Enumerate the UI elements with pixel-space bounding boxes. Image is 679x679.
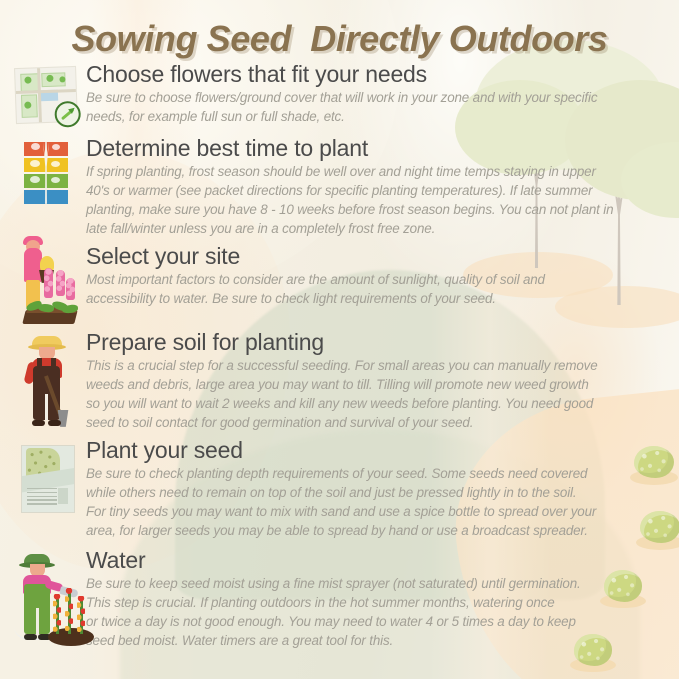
packet-text-line [27, 488, 57, 490]
seasons-foliage [51, 177, 60, 183]
compass-needle [61, 108, 74, 120]
step-icon-container [12, 62, 84, 122]
step-body: Prepare soil for planting This is a cruc… [84, 330, 665, 432]
seed-packet-icon [22, 446, 74, 512]
step-text: If spring planting, frost season should … [86, 162, 665, 238]
four-seasons-bands-icon [24, 142, 68, 204]
flower-spike [44, 268, 53, 298]
packet-text-line [27, 499, 57, 501]
step-heading: Water [86, 548, 665, 573]
step-icon-container [12, 548, 84, 646]
step-item: Water Be sure to keep seed moist using a… [0, 548, 679, 650]
person-planting-flower-box-icon [18, 246, 82, 324]
page-title: Sowing Seed Directly Outdoors [0, 18, 679, 60]
step-icon-container [12, 244, 84, 324]
step-heading: Select your site [86, 244, 665, 269]
person-boot [24, 634, 37, 640]
step-icon-container [12, 438, 84, 512]
seasons-foliage [31, 143, 40, 150]
steps-list: Choose flowers that fit your needs Be su… [0, 62, 679, 650]
bush-soil-pad [570, 658, 616, 672]
step-body: Water Be sure to keep seed moist using a… [84, 548, 665, 650]
step-heading: Plant your seed [86, 438, 665, 463]
seasons-foliage [30, 176, 40, 183]
seasons-foliage [30, 160, 40, 167]
packet-instruction-text [27, 488, 57, 510]
infographic-poster: Sowing Seed Directly Outdoors [0, 0, 679, 679]
step-icon-container [12, 136, 84, 204]
step-body: Choose flowers that fit your needs Be su… [84, 62, 665, 126]
step-heading: Prepare soil for planting [86, 330, 665, 355]
compass-icon [54, 101, 81, 128]
flower-spike [66, 278, 75, 300]
flower-stem [68, 588, 71, 634]
seasons-foliage [51, 161, 60, 167]
step-item: Plant your seed Be sure to check plantin… [0, 438, 679, 540]
flower-stem [56, 594, 59, 634]
flower-spike [56, 270, 65, 296]
packet-text-line [27, 496, 57, 498]
step-text: Be sure to keep seed moist using a fine … [86, 574, 665, 650]
step-heading: Determine best time to plant [86, 136, 665, 161]
person-boot [32, 420, 45, 426]
step-item: Determine best time to plant If spring p… [0, 136, 679, 238]
gardener-watering-icon [12, 552, 98, 646]
step-heading: Choose flowers that fit your needs [86, 62, 665, 87]
step-text: Most important factors to consider are t… [86, 270, 665, 308]
packet-tag [58, 488, 68, 504]
person-boot [48, 420, 61, 426]
packet-text-line [27, 492, 57, 494]
flower-stem [80, 596, 83, 634]
step-item: Choose flowers that fit your needs Be su… [0, 62, 679, 126]
packet-text-line [27, 503, 57, 505]
step-text: This is a crucial step for a successful … [86, 356, 665, 432]
step-body: Plant your seed Be sure to check plantin… [84, 438, 665, 540]
step-body: Determine best time to plant If spring p… [84, 136, 665, 238]
step-text: Be sure to choose flowers/ground cover t… [86, 88, 665, 126]
step-body: Select your site Most important factors … [84, 244, 665, 308]
garden-plan-map-compass-icon [15, 67, 77, 123]
step-text: Be sure to check planting depth requirem… [86, 464, 665, 540]
step-item: Select your site Most important factors … [0, 244, 679, 324]
seasons-foliage [52, 144, 60, 150]
step-icon-container [12, 330, 84, 428]
leg-separation [45, 394, 48, 420]
step-item: Prepare soil for planting This is a cruc… [0, 330, 679, 432]
gardener-with-shovel-icon [20, 336, 80, 428]
